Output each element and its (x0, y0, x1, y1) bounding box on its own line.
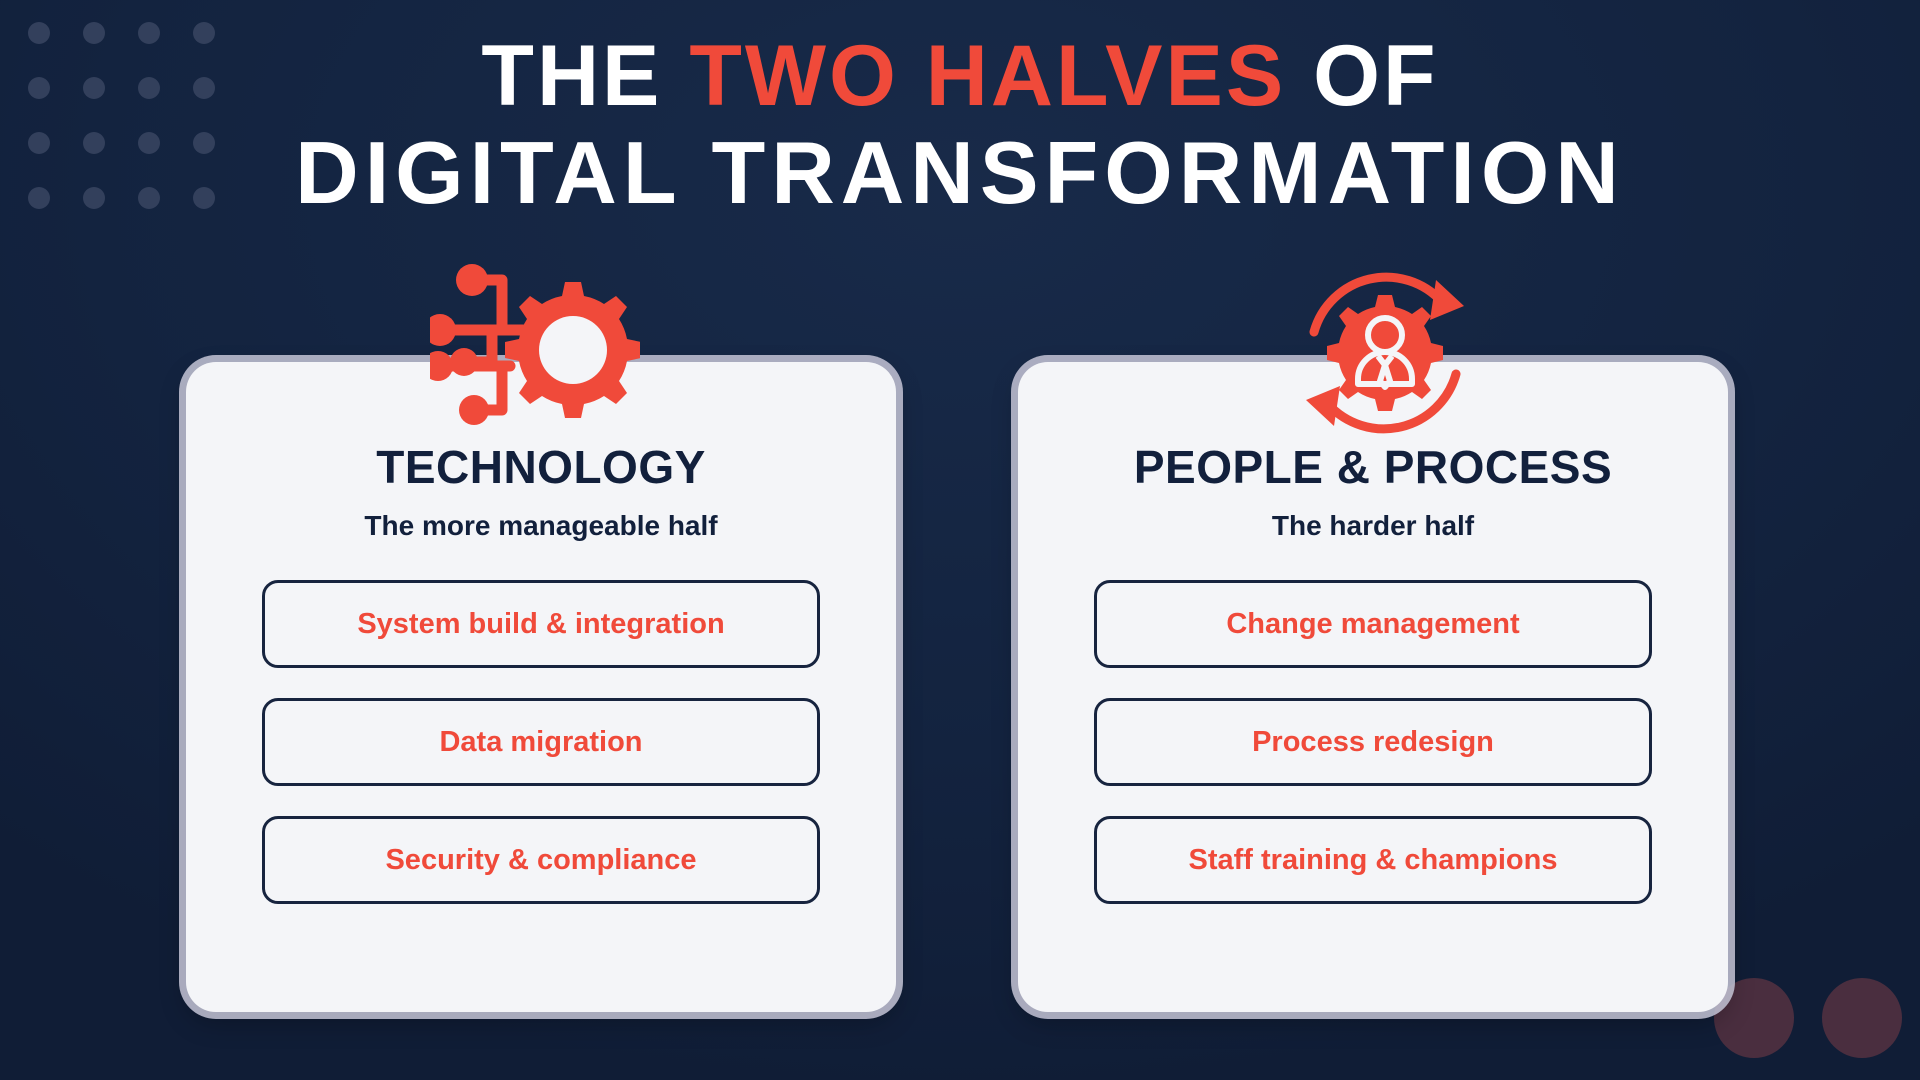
pill-security-compliance[interactable]: Security & compliance (262, 816, 820, 904)
card-technology: TECHNOLOGY The more manageable half Syst… (186, 362, 896, 1012)
title-text-pre: THE (481, 28, 689, 124)
pill-process-redesign[interactable]: Process redesign (1094, 698, 1652, 786)
title-line-2: DIGITAL TRANSFORMATION (0, 124, 1920, 223)
page-title: THE TWO HALVES OF DIGITAL TRANSFORMATION (0, 28, 1920, 223)
title-text-post: OF (1286, 28, 1438, 124)
title-text-accent: TWO HALVES (689, 28, 1286, 124)
gear-person-cycle-icon (1290, 258, 1480, 448)
card-people-title: PEOPLE & PROCESS (1134, 440, 1612, 494)
title-line-1: THE TWO HALVES OF (0, 28, 1920, 124)
gear-circuit-icon (430, 258, 640, 448)
decorative-circle-2 (1822, 978, 1902, 1058)
pill-staff-training-champions[interactable]: Staff training & champions (1094, 816, 1652, 904)
card-people-subtitle: The harder half (1272, 510, 1474, 542)
pill-system-build-integration[interactable]: System build & integration (262, 580, 820, 668)
card-technology-title: TECHNOLOGY (376, 440, 706, 494)
card-people-pill-list: Change management Process redesign Staff… (1018, 580, 1728, 904)
pill-data-migration[interactable]: Data migration (262, 698, 820, 786)
pill-change-management[interactable]: Change management (1094, 580, 1652, 668)
card-technology-pill-list: System build & integration Data migratio… (186, 580, 896, 904)
card-technology-subtitle: The more manageable half (364, 510, 717, 542)
card-people-process: PEOPLE & PROCESS The harder half Change … (1018, 362, 1728, 1012)
